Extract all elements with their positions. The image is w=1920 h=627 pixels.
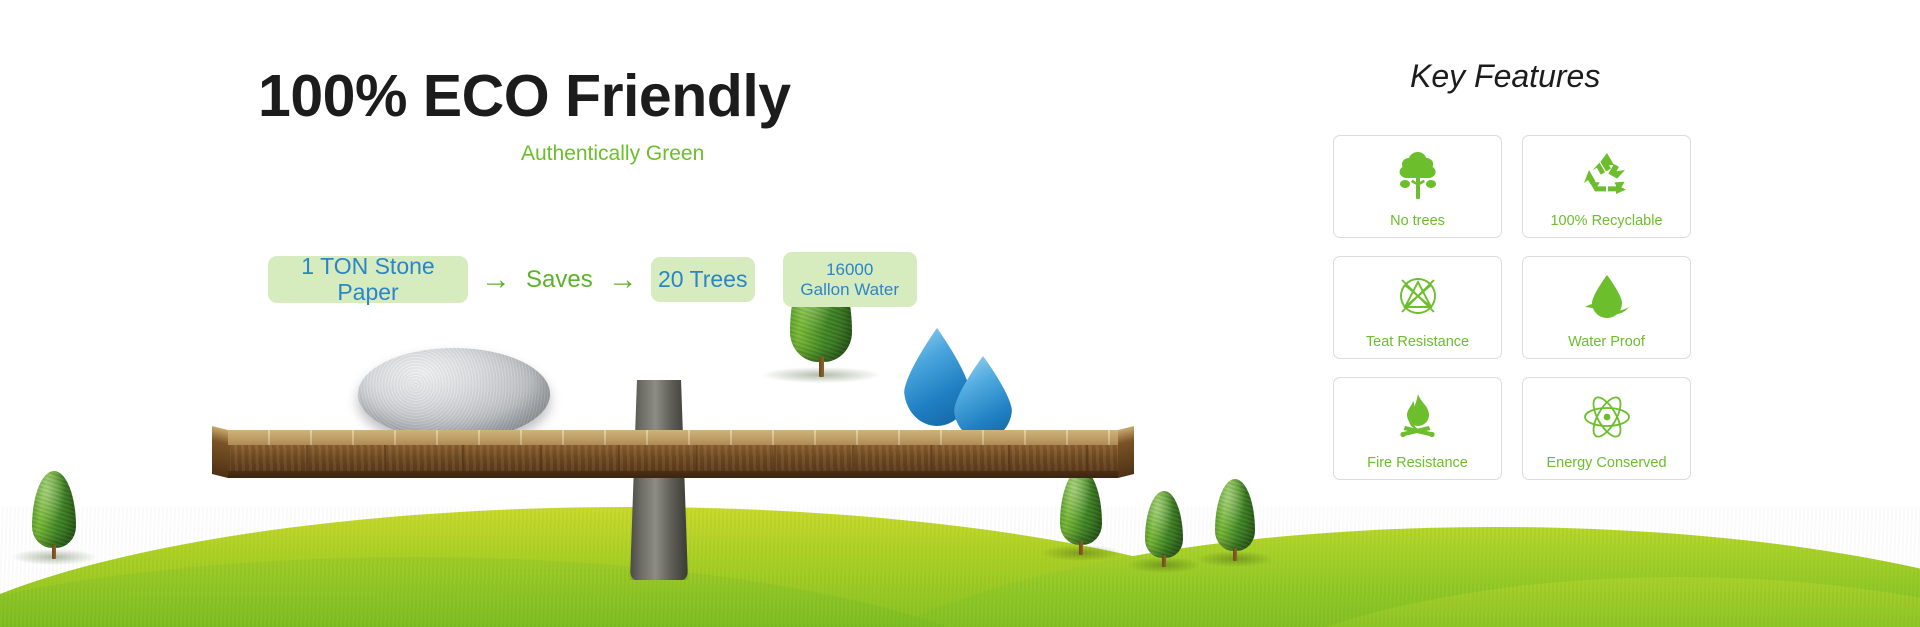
feature-label: Energy Conserved (1523, 455, 1690, 471)
campfire-icon (1394, 391, 1442, 443)
water-drop-small-icon (954, 356, 1012, 440)
tree-trunk (819, 357, 825, 377)
plank-front-face (228, 445, 1118, 471)
tree-trunk (1233, 548, 1237, 561)
water-drop-icon (1582, 270, 1632, 322)
tree-trunk (1162, 555, 1165, 567)
equation-trees-pill: 20 Trees (651, 257, 755, 302)
equation-trees-label: 20 Trees (658, 267, 748, 293)
arrow-right-icon-2: → (595, 265, 651, 295)
tree-icon (1395, 149, 1441, 201)
plank-end-right (1118, 426, 1134, 478)
balance-pedestal (630, 380, 688, 580)
atom-icon (1582, 391, 1632, 443)
feature-label: Water Proof (1523, 334, 1690, 350)
equation-input-pill: 1 TON Stone Paper (268, 256, 468, 303)
plank-top-surface (228, 430, 1118, 445)
tear-resistance-icon (1393, 270, 1443, 322)
feature-card-recyclable[interactable]: 100% Recyclable (1522, 135, 1691, 238)
tree-crown (1145, 491, 1183, 558)
feature-label: Fire Resistance (1334, 455, 1501, 471)
key-features-grid: No trees 100% Recyclable (1333, 135, 1691, 480)
cypress-tree-left (32, 471, 76, 559)
page-subtitle: Authentically Green (521, 142, 704, 166)
cypress-tree-mid-b (1145, 491, 1183, 567)
cypress-tree-mid-c (1215, 479, 1255, 561)
feature-card-energy-conserved[interactable]: Energy Conserved (1522, 377, 1691, 480)
equation-water-amount: 16000 (826, 260, 873, 279)
feature-card-fire-resistance[interactable]: Fire Resistance (1333, 377, 1502, 480)
feature-label: Teat Resistance (1334, 334, 1501, 350)
feature-card-no-trees[interactable]: No trees (1333, 135, 1502, 238)
plank-bottom-edge (228, 471, 1118, 478)
feature-label: 100% Recyclable (1523, 213, 1690, 229)
tree-trunk (1079, 541, 1083, 555)
wooden-plank-balance (228, 430, 1118, 478)
equation-water-unit: Gallon Water (800, 280, 899, 299)
equation-input-label: 1 TON Stone Paper (268, 254, 468, 306)
equation-water-pill: 16000 Gallon Water (783, 252, 917, 307)
recycle-icon (1582, 149, 1632, 201)
savings-equation: 1 TON Stone Paper → Saves → 20 Trees 160… (268, 252, 917, 307)
tree-crown (32, 471, 76, 548)
tree-trunk (52, 545, 56, 559)
key-features-title: Key Features (1410, 58, 1600, 95)
tree-crown (1215, 479, 1255, 551)
eco-infographic-banner: 100% ECO Friendly Authentically Green 1 … (0, 0, 1920, 627)
water-droplets (900, 328, 1030, 438)
page-title: 100% ECO Friendly (258, 62, 791, 130)
feature-card-tear-resistance[interactable]: Teat Resistance (1333, 256, 1502, 359)
cypress-tree-mid-a (1060, 469, 1102, 555)
stone-boulder (358, 348, 550, 440)
plank-end-left (212, 426, 228, 478)
arrow-right-icon-1: → (468, 265, 524, 295)
feature-label: No trees (1334, 213, 1501, 229)
feature-card-water-proof[interactable]: Water Proof (1522, 256, 1691, 359)
tree-crown (1060, 469, 1102, 545)
equation-saves-label: Saves (524, 266, 595, 294)
